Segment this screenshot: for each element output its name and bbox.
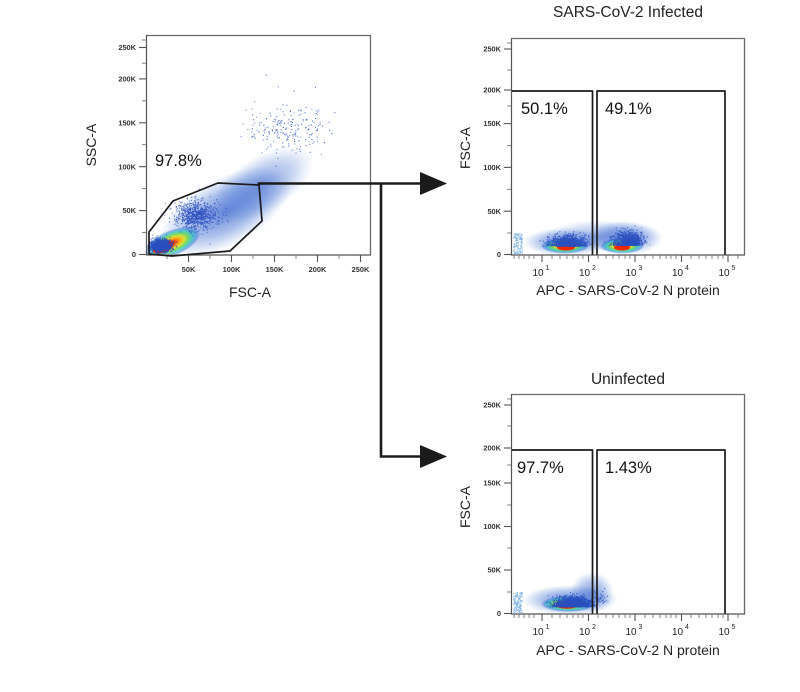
panel2-ytick-100k: 100K	[483, 163, 501, 172]
panel1-xtick-50k: 50K	[182, 265, 196, 274]
panel3-ytick-200k: 200K	[483, 444, 501, 453]
panel2-xtick-4-exp: 4	[685, 265, 689, 272]
panel3-xtick-5-exp: 5	[732, 624, 736, 631]
panel2-ylabel: FSC-A	[457, 126, 473, 169]
panel2-ytick-200k: 200K	[483, 86, 501, 95]
panel2-gate-right-label: 49.1%	[605, 100, 652, 118]
panel3-xtick-1-exp: 1	[546, 624, 550, 631]
panel2-xtick-2-exp: 2	[592, 265, 596, 272]
panel1-ytick-200k: 200K	[118, 75, 136, 84]
panel2-xtick-1-exp: 1	[546, 265, 550, 272]
panel3-title: Uninfected	[591, 371, 665, 388]
panel1-ytick-100k: 100K	[118, 162, 136, 171]
panel1-xtick-250k: 250K	[352, 265, 370, 274]
panel1-ytick-250k: 250K	[118, 43, 136, 52]
panel2-xtick-3-exp: 3	[639, 265, 643, 272]
panel3-gate-left-label: 97.7%	[517, 459, 564, 477]
panel3-xtick-1: 10	[532, 627, 544, 638]
panel3-xtick-3: 10	[625, 627, 637, 638]
panel1-xtick-100k: 100K	[223, 265, 241, 274]
panel2-xtick-5: 10	[718, 268, 730, 279]
panel1-ytick-0: 0	[132, 250, 136, 259]
panel1-xlabel: FSC-A	[229, 284, 272, 300]
panel3-ylabel: FSC-A	[457, 485, 473, 528]
panel2-xlabel: APC - SARS-CoV-2 N protein	[536, 282, 720, 298]
panel3-xtick-5: 10	[718, 627, 730, 638]
figure-background	[0, 0, 800, 687]
panel1-xtick-200k: 200K	[309, 265, 327, 274]
panel3-xtick-2: 10	[579, 627, 591, 638]
panel3-xtick-4-exp: 4	[685, 624, 689, 631]
panel3-ytick-0: 0	[497, 609, 501, 618]
panel2-title: SARS-CoV-2 Infected	[553, 4, 703, 21]
panel3-ytick-250k: 250K	[483, 401, 501, 410]
panel2-xtick-1: 10	[532, 268, 544, 279]
panel3-xtick-2-exp: 2	[592, 624, 596, 631]
panel2-ytick-0: 0	[497, 250, 501, 259]
panel1-ylabel: SSC-A	[83, 123, 99, 166]
panel2-xtick-5-exp: 5	[732, 265, 736, 272]
figure-canvas: 0 50K 100K 150K 200K 250K 50K 100K 150K	[0, 0, 800, 687]
panel3-xtick-4: 10	[672, 627, 684, 638]
panel2-ytick-150k: 150K	[483, 119, 501, 128]
panel2-xtick-3: 10	[625, 268, 637, 279]
panel2-xtick-2: 10	[579, 268, 591, 279]
panel3-gate-right-label: 1.43%	[605, 459, 652, 477]
flow-cytometry-figure: 0 50K 100K 150K 200K 250K 50K 100K 150K	[0, 0, 800, 687]
panel1-ytick-150k: 150K	[118, 118, 136, 127]
panel2-xtick-4: 10	[672, 268, 684, 279]
panel1-xtick-150k: 150K	[266, 265, 284, 274]
connector-branch-top	[259, 184, 421, 186]
panel1-gate-label: 97.8%	[155, 152, 202, 170]
panel2-gate-left-label: 50.1%	[521, 100, 568, 118]
panel2-ytick-250k: 250K	[483, 45, 501, 54]
panel2-ytick-50k: 50K	[487, 207, 501, 216]
panel3-xlabel: APC - SARS-CoV-2 N protein	[536, 642, 720, 658]
panel3-ytick-50k: 50K	[487, 566, 501, 575]
panel3-ytick-150k: 150K	[483, 479, 501, 488]
panel1-ytick-50k: 50K	[122, 206, 136, 215]
panel3-xtick-3-exp: 3	[639, 624, 643, 631]
panel3-ytick-100k: 100K	[483, 522, 501, 531]
